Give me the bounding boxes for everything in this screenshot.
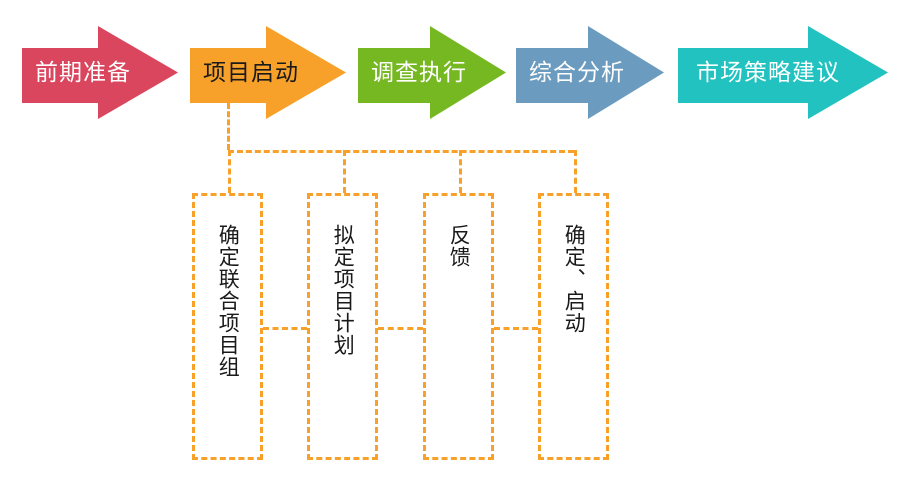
subtask-box-fankui[interactable]: 反馈 bbox=[423, 193, 494, 460]
subtask-label-wrap: 确定、启动 bbox=[541, 224, 606, 334]
subtask-label: 拟定项目计划 bbox=[331, 224, 355, 356]
subtask-label: 确定、启动 bbox=[562, 224, 586, 334]
stage-label: 调查执行 bbox=[358, 15, 467, 130]
connector-subtask-1-to-2 bbox=[263, 327, 307, 330]
stage-label: 前期准备 bbox=[22, 15, 131, 130]
connector-horizontal-bus bbox=[228, 150, 574, 153]
subtask-label-wrap: 拟定项目计划 bbox=[310, 224, 375, 356]
diagram-canvas: 前期准备 项目启动 调查执行 综合分析 市场策略建议 确定联合 bbox=[0, 0, 900, 480]
connector-bus-to-subtask-1 bbox=[228, 150, 231, 193]
stage-label: 项目启动 bbox=[190, 15, 299, 130]
stage-arrow-shichangcelüejianyi[interactable]: 市场策略建议 bbox=[678, 15, 888, 130]
subtask-label-wrap: 确定联合项目组 bbox=[195, 224, 260, 378]
subtask-box-quedingqidong[interactable]: 确定、启动 bbox=[538, 193, 609, 460]
subtask-box-quedinglianhexiangmuzu[interactable]: 确定联合项目组 bbox=[192, 193, 263, 460]
connector-subtask-2-to-3 bbox=[378, 327, 423, 330]
stage-label: 市场策略建议 bbox=[678, 15, 840, 130]
stage-arrow-qianqizhunbei[interactable]: 前期准备 bbox=[22, 15, 178, 130]
connector-bus-to-subtask-4 bbox=[574, 150, 577, 193]
connector-subtask-3-to-4 bbox=[494, 327, 538, 330]
subtask-label: 反馈 bbox=[447, 224, 471, 268]
connector-stage-to-bus bbox=[227, 103, 230, 150]
stage-arrow-diaochazhixing[interactable]: 调查执行 bbox=[358, 15, 506, 130]
stage-label: 综合分析 bbox=[516, 15, 625, 130]
connector-bus-to-subtask-2 bbox=[343, 150, 346, 193]
connector-bus-to-subtask-3 bbox=[459, 150, 462, 193]
subtask-label: 确定联合项目组 bbox=[216, 224, 240, 378]
subtask-label-wrap: 反馈 bbox=[426, 224, 491, 268]
stage-arrow-xiangmuqidong[interactable]: 项目启动 bbox=[190, 15, 346, 130]
stage-arrow-zonghefenxi[interactable]: 综合分析 bbox=[516, 15, 664, 130]
subtask-box-nidingxiangmujihua[interactable]: 拟定项目计划 bbox=[307, 193, 378, 460]
